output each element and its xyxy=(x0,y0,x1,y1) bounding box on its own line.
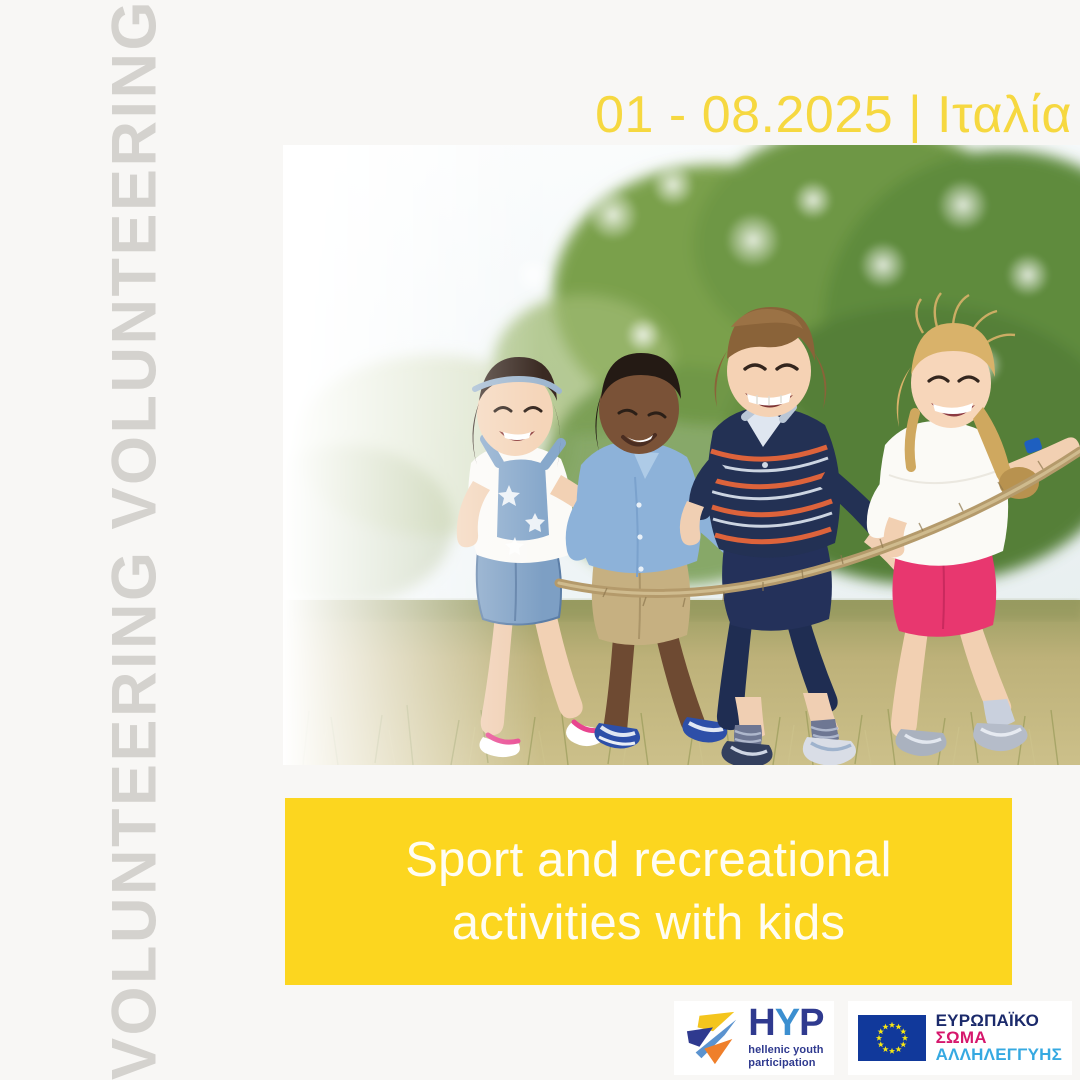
hyp-subtitle-line-1: hellenic youth xyxy=(748,1044,823,1057)
title-text: Sport and recreational activities with k… xyxy=(285,829,1012,954)
hero-photo xyxy=(283,145,1080,765)
title-banner: Sport and recreational activities with k… xyxy=(285,798,1012,985)
hyp-mark-icon xyxy=(684,1010,742,1066)
eu-line-2: ΣΩΜΑ xyxy=(936,1029,1062,1046)
eu-line-3: ΑΛΛΗΛΕΓΓΥΗΣ xyxy=(936,1046,1062,1063)
hyp-name: HYP xyxy=(748,1005,823,1041)
poster-canvas: VOLUNTEERING VOLUNTEERING VOLUNTEERING 0… xyxy=(0,0,1080,1080)
hyp-wordmark: HYP hellenic youth participation xyxy=(748,1005,823,1070)
hyp-subtitle-line-2: participation xyxy=(748,1057,823,1070)
hyp-subtitle: hellenic youth participation xyxy=(748,1044,823,1070)
hyp-letter-h: H xyxy=(748,1002,774,1044)
eu-solidarity-corps-logo: ΕΥΡΩΠΑΪΚΟ ΣΩΜΑ ΑΛΛΗΛΕΓΓΥΗΣ xyxy=(848,1001,1072,1075)
hyp-letter-p: P xyxy=(799,1002,823,1044)
vertical-watermark-text: VOLUNTEERING VOLUNTEERING VOLUNTEERING xyxy=(104,0,167,1080)
hyp-letter-y: Y xyxy=(775,1002,799,1044)
vertical-watermark-strip: VOLUNTEERING VOLUNTEERING VOLUNTEERING xyxy=(0,0,270,1080)
eu-line-1: ΕΥΡΩΠΑΪΚΟ xyxy=(936,1012,1062,1029)
eu-flag-icon xyxy=(858,1015,926,1061)
header-date-location: 01 - 08.2025 | Ιταλία xyxy=(283,88,1080,143)
footer-logo-row: HYP hellenic youth participation xyxy=(0,995,1080,1080)
hyp-logo: HYP hellenic youth participation xyxy=(674,1001,833,1075)
eu-wordmark: ΕΥΡΩΠΑΪΚΟ ΣΩΜΑ ΑΛΛΗΛΕΓΓΥΗΣ xyxy=(936,1012,1062,1064)
hero-photo-illustration xyxy=(283,145,1080,765)
